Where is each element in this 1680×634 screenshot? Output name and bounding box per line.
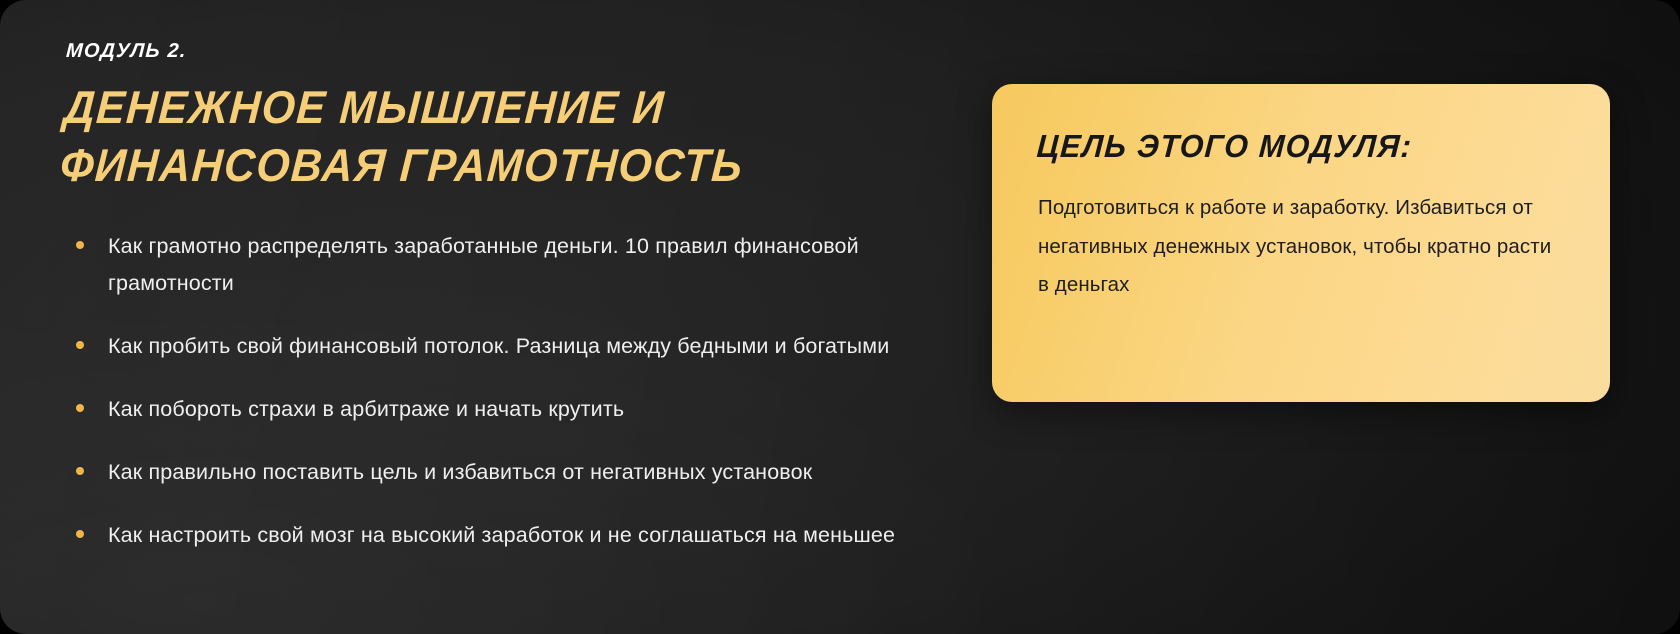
page-title: ДЕНЕЖНОЕ МЫШЛЕНИЕ И ФИНАНСОВАЯ ГРАМОТНОС… bbox=[59, 79, 885, 194]
list-item: Как побороть страхи в арбитраже и начать… bbox=[66, 391, 946, 428]
bullet-dot-icon bbox=[76, 341, 84, 349]
list-item-label: Как пробить свой финансовый потолок. Раз… bbox=[108, 334, 889, 358]
goal-card-body: Подготовиться к работе и заработку. Изба… bbox=[1038, 189, 1558, 305]
list-item-label: Как грамотно распределять заработанные д… bbox=[108, 234, 859, 295]
list-item-label: Как настроить свой мозг на высокий зараб… bbox=[108, 523, 895, 547]
list-item-label: Как побороть страхи в арбитраже и начать… bbox=[108, 397, 624, 421]
bullet-dot-icon bbox=[76, 530, 84, 538]
module-kicker: МОДУЛЬ 2. bbox=[65, 40, 946, 63]
module-topics-list: Как грамотно распределять заработанные д… bbox=[66, 228, 946, 554]
list-item: Как пробить свой финансовый потолок. Раз… bbox=[66, 328, 946, 365]
list-item: Как правильно поставить цель и избавитьс… bbox=[66, 454, 946, 491]
left-content-column: МОДУЛЬ 2. ДЕНЕЖНОЕ МЫШЛЕНИЕ И ФИНАНСОВАЯ… bbox=[66, 40, 946, 554]
bullet-dot-icon bbox=[76, 404, 84, 412]
list-item: Как настроить свой мозг на высокий зараб… bbox=[66, 517, 946, 554]
module-goal-card: ЦЕЛЬ ЭТОГО МОДУЛЯ: Подготовиться к работ… bbox=[992, 84, 1610, 402]
list-item: Как грамотно распределять заработанные д… bbox=[66, 228, 946, 302]
bullet-dot-icon bbox=[76, 467, 84, 475]
goal-card-title: ЦЕЛЬ ЭТОГО МОДУЛЯ: bbox=[1036, 128, 1538, 165]
list-item-label: Как правильно поставить цель и избавитьс… bbox=[108, 460, 812, 484]
bullet-dot-icon bbox=[76, 241, 84, 249]
slide-root: МОДУЛЬ 2. ДЕНЕЖНОЕ МЫШЛЕНИЕ И ФИНАНСОВАЯ… bbox=[0, 0, 1680, 634]
